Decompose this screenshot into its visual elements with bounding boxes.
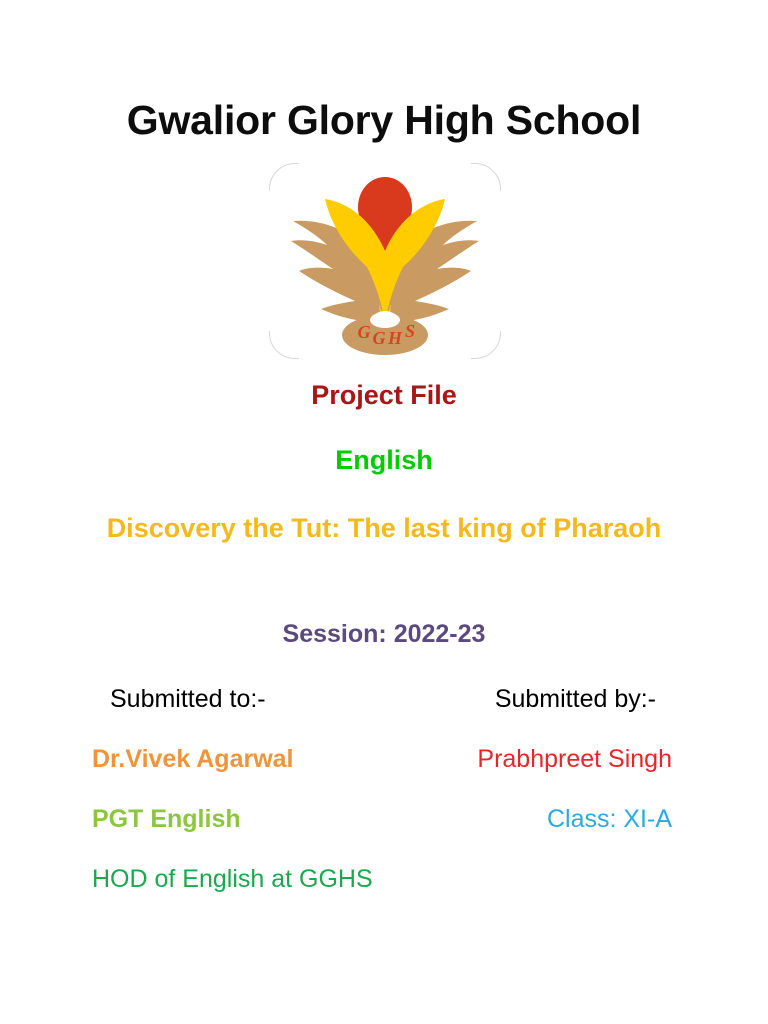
logo-base-notch (370, 312, 400, 328)
session-label: Session: 2022-23 (0, 618, 768, 650)
logo-emblem-graphic: G G H S (269, 163, 501, 359)
submitted-by-column: Submitted by:- Prabhpreet Singh Class: X… (352, 682, 672, 862)
project-topic: Discovery the Tut: The last king of Phar… (104, 503, 664, 554)
student-name: Prabhpreet Singh (352, 742, 672, 802)
logo-monogram-letter-g2: G (373, 328, 386, 348)
logo-monogram-letter-h: H (387, 328, 403, 348)
page-title: Gwalior Glory High School (0, 95, 768, 145)
logo-monogram-letter-g1: G (358, 322, 371, 342)
subject-label: English (0, 443, 768, 477)
logo-monogram-letter-s: S (405, 321, 415, 341)
student-class: Class: XI-A (352, 802, 672, 862)
teacher-department: HOD of English at GGHS (92, 862, 412, 922)
project-file-label: Project File (0, 378, 768, 412)
submitted-by-heading: Submitted by:- (352, 682, 672, 742)
document-page: Gwalior Glory High School (0, 0, 768, 1024)
school-logo: G G H S (269, 163, 501, 359)
